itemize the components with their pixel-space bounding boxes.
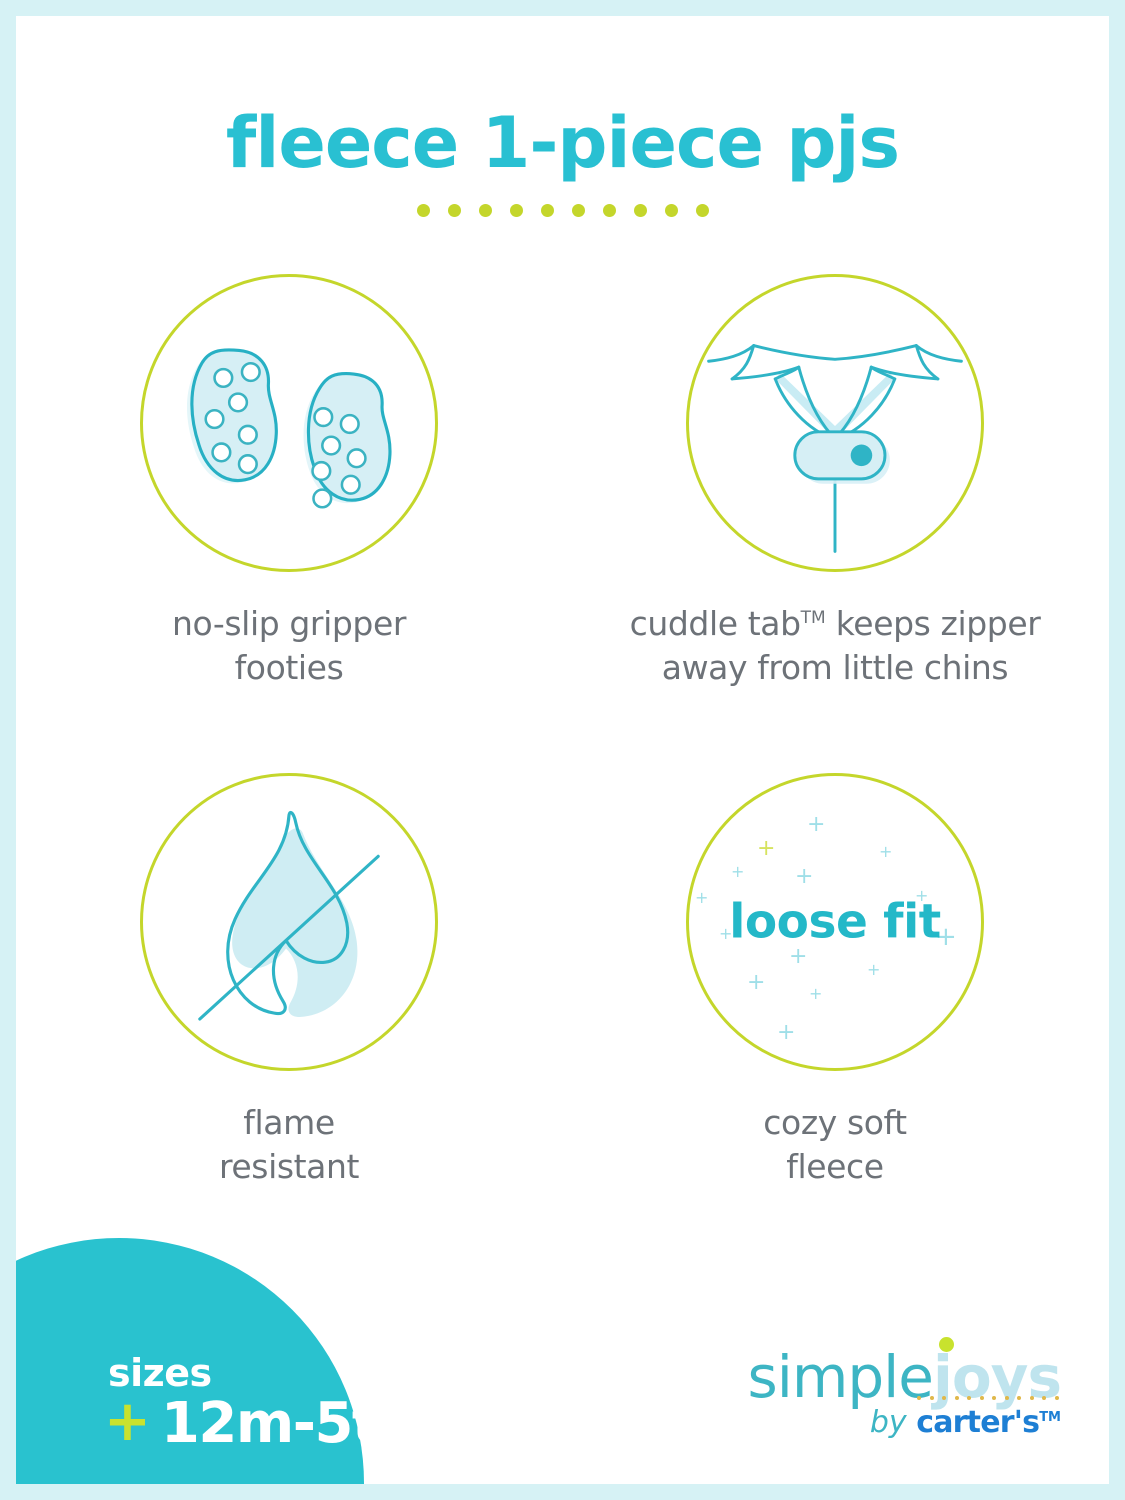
brand-logo-main: simplejoys: [747, 1348, 1061, 1406]
sparkle-plus-icon: +: [867, 962, 880, 978]
caption-line-2: resistant: [219, 1145, 359, 1189]
sparkle-plus-icon: +: [879, 844, 892, 860]
caption-line-2: fleece: [763, 1145, 906, 1189]
page-title: fleece 1-piece pjs: [16, 102, 1109, 184]
feature-cell-gripper-footies: no-slip gripper footies: [16, 274, 562, 689]
plus-icon: +: [104, 1394, 151, 1450]
sparkle-plus-icon: +: [757, 838, 775, 860]
feature-caption: no-slip gripper footies: [172, 602, 406, 689]
cuddle-tab-collar-icon: [689, 277, 981, 569]
feature-cell-flame-resistant: flame resistant: [16, 773, 562, 1188]
divider-dot: [510, 204, 523, 217]
trademark-symbol: TM: [801, 608, 826, 628]
caption-line-1: cuddle tabTM keeps zipper: [630, 602, 1041, 646]
divider-dot: [603, 204, 616, 217]
brand-word-simple: simple: [747, 1343, 932, 1411]
sparkle-plus-icon: +: [807, 814, 825, 836]
divider-dot: [448, 204, 461, 217]
brand-logo-sub: by carter'sTM: [747, 1408, 1061, 1438]
feature-caption: cuddle tabTM keeps zipper away from litt…: [630, 602, 1041, 689]
j-dot-icon: [939, 1337, 954, 1352]
feature-circle: + + + + + + + + + + + + + + loos: [686, 773, 984, 1071]
sparkle-plus-icon: +: [731, 864, 744, 880]
feature-grid: no-slip gripper footies: [16, 274, 1109, 1188]
divider-dot: [634, 204, 647, 217]
feature-circle: [140, 773, 438, 1071]
divider-dot: [572, 204, 585, 217]
caption-line-1: flame: [219, 1101, 359, 1145]
no-flame-icon: [143, 776, 435, 1068]
feature-caption: cozy soft fleece: [763, 1101, 906, 1188]
feature-cell-cozy-soft-fleece: + + + + + + + + + + + + + + loos: [562, 773, 1108, 1188]
feature-cell-cuddle-tab: cuddle tabTM keeps zipper away from litt…: [562, 274, 1108, 689]
sizes-range-value: 12m-5t: [161, 1396, 377, 1452]
divider-dot: [417, 204, 430, 217]
feature-circle: [686, 274, 984, 572]
gripper-footies-icon: [143, 277, 435, 569]
caption-line-1: no-slip gripper: [172, 602, 406, 646]
caption-line-2: footies: [172, 646, 406, 690]
divider-dot: [541, 204, 554, 217]
caption-line-1: cozy soft: [763, 1101, 906, 1145]
sparkle-plus-icon: +: [747, 972, 765, 994]
sparkle-plus-icon: +: [795, 866, 813, 888]
sizes-label: sizes: [104, 1354, 434, 1394]
sizes-badge: sizes + 12m-5t: [104, 1354, 434, 1452]
feature-row-bottom: flame resistant + + + + + + + +: [16, 773, 1109, 1188]
feature-caption: flame resistant: [219, 1101, 359, 1188]
row-spacer: [16, 689, 1109, 773]
divider-dot: [696, 204, 709, 217]
logo-dot-underline: [917, 1396, 1059, 1402]
caption-line-1-post: keeps zipper: [826, 604, 1041, 643]
divider-dot: [479, 204, 492, 217]
trademark-symbol: TM: [1039, 1410, 1061, 1425]
caption-line-2: away from little chins: [630, 646, 1041, 690]
divider-dot: [665, 204, 678, 217]
dot-divider: [16, 204, 1109, 217]
sparkle-plus-icon: +: [809, 986, 822, 1002]
product-infographic-poster: fleece 1-piece pjs: [0, 0, 1125, 1500]
poster-canvas: fleece 1-piece pjs: [16, 16, 1109, 1484]
sparkle-plus-icon: +: [777, 1022, 795, 1044]
loose-fit-badge-label: loose fit: [689, 895, 981, 950]
brand-logo: simplejoys by carter'sTM: [747, 1348, 1061, 1438]
feature-row-top: no-slip gripper footies: [16, 274, 1109, 689]
feature-circle: [140, 274, 438, 572]
caption-line-1-pre: cuddle tab: [630, 604, 801, 643]
sizes-range-line: + 12m-5t: [104, 1396, 434, 1452]
